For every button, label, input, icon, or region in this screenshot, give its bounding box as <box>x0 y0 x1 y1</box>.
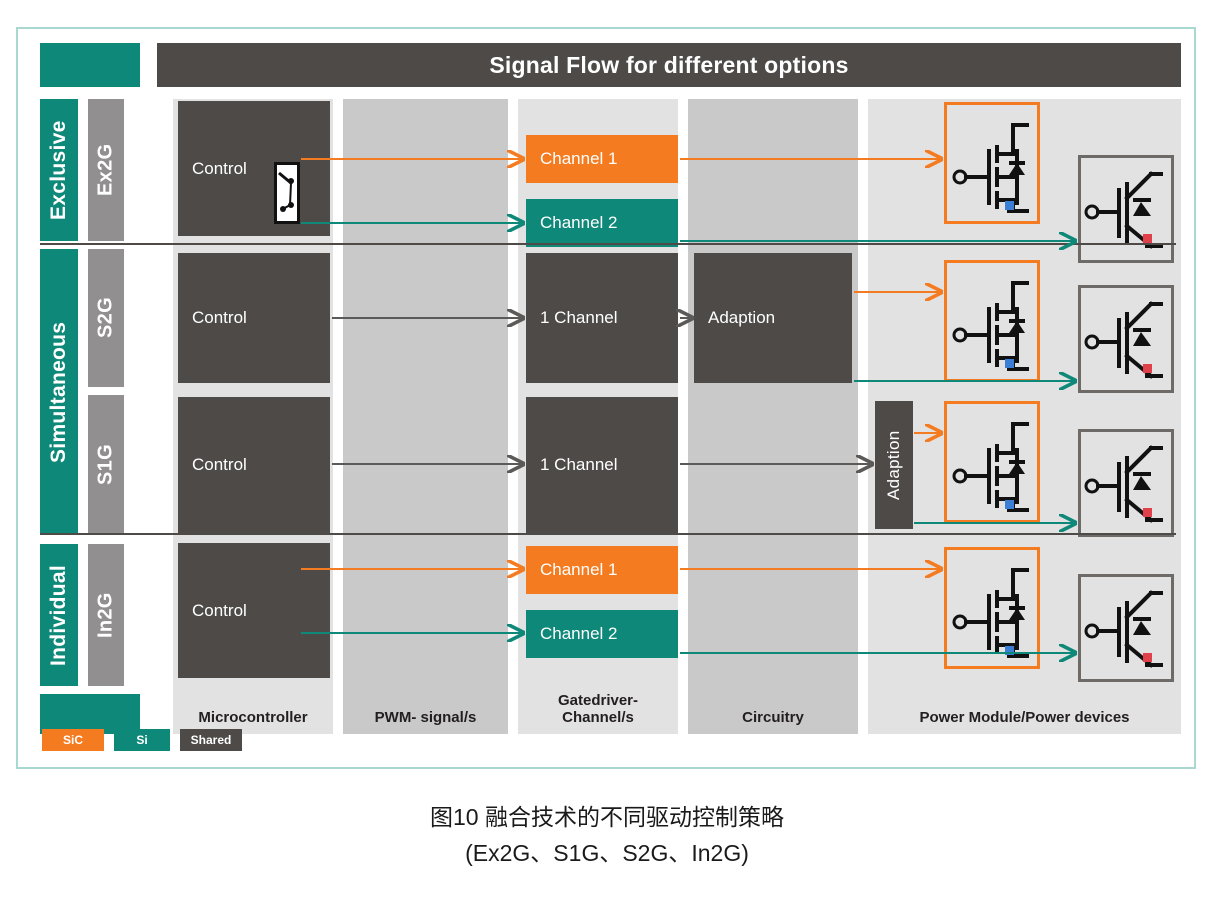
row-separator-1 <box>40 243 1176 245</box>
control-label-ex2g: Control <box>192 159 247 179</box>
category-label-simultaneous-text: Simultaneous <box>47 321 71 462</box>
mosfet-symbol <box>947 404 1037 520</box>
row-code-s1g-text: S1G <box>95 445 118 486</box>
si-device-ex2g <box>1078 155 1174 263</box>
header-bar: Signal Flow for different options <box>157 43 1181 87</box>
control-label-s1g: Control <box>192 455 247 475</box>
mosfet-symbol <box>947 263 1037 379</box>
row-code-in2g-text: In2G <box>95 592 118 638</box>
circuitry-adaption-s1g-text: Adaption <box>884 430 904 500</box>
gatedriver-channel-2-in2g: Channel 2 <box>526 610 678 658</box>
column-footer-power: Power Module/Power devices <box>868 684 1181 734</box>
gatedriver-channel-s1g: 1 Channel <box>526 397 678 533</box>
sic-device-in2g <box>944 547 1040 669</box>
row-separator-2 <box>40 533 1176 535</box>
gatedriver-channel-1-in2g-text: Channel 1 <box>540 560 618 580</box>
mosfet-symbol <box>947 105 1037 221</box>
figure-caption: 图10 融合技术的不同驱动控制策略 (Ex2G、S1G、S2G、In2G) <box>0 800 1214 871</box>
control-block-s1g: Control <box>178 397 330 533</box>
gatedriver-channel-2-in2g-text: Channel 2 <box>540 624 618 644</box>
column-footer-circuitry: Circuitry <box>688 684 858 734</box>
column-footer-circuitry-text: Circuitry <box>742 710 804 727</box>
sic-device-s2g <box>944 260 1040 382</box>
figure-caption-line1: 图10 融合技术的不同驱动控制策略 <box>0 800 1214 836</box>
mosfet-symbol <box>947 550 1037 666</box>
si-device-s2g <box>1078 285 1174 393</box>
circuitry-adaption-s1g: Adaption <box>875 401 913 529</box>
lane-circuitry <box>688 99 858 734</box>
igbt-symbol <box>1081 432 1171 534</box>
column-footer-power-text: Power Module/Power devices <box>919 710 1129 727</box>
si-device-in2g <box>1078 574 1174 682</box>
gatedriver-channel-1-ex2g: Channel 1 <box>526 135 678 183</box>
circuitry-adaption-s2g-text: Adaption <box>708 308 775 328</box>
row-code-ex2g: Ex2G <box>88 99 124 241</box>
igbt-symbol <box>1081 288 1171 390</box>
column-footer-gatedriver: Gatedriver- Channel/s <box>518 669 678 734</box>
corner-key-block <box>40 43 140 87</box>
sic-device-ex2g <box>944 102 1040 224</box>
row-code-s2g-text: S2G <box>95 298 118 339</box>
figure-container: Signal Flow for different options Exclus… <box>16 27 1196 769</box>
column-footer-microcontroller: Microcontroller <box>173 684 333 734</box>
control-block-s2g: Control <box>178 253 330 383</box>
gatedriver-channel-2-ex2g: Channel 2 <box>526 199 678 247</box>
legend-chip-sic-text: SiC <box>63 733 83 747</box>
si-device-s1g <box>1078 429 1174 537</box>
category-label-exclusive: Exclusive <box>40 99 78 241</box>
category-label-individual: Individual <box>40 544 78 686</box>
legend-chip-sic: SiC <box>42 729 104 751</box>
category-label-exclusive-text: Exclusive <box>47 120 71 220</box>
row-code-s1g: S1G <box>88 395 124 535</box>
header-title: Signal Flow for different options <box>489 52 848 79</box>
gatedriver-channel-s1g-text: 1 Channel <box>540 455 618 475</box>
row-code-ex2g-text: Ex2G <box>95 144 118 196</box>
category-label-individual-text: Individual <box>47 565 71 666</box>
switch-icon <box>274 162 300 224</box>
control-block-ex2g: Control <box>178 101 330 236</box>
control-label-in2g: Control <box>192 601 247 621</box>
sic-device-s1g <box>944 401 1040 523</box>
column-footer-pwm: PWM- signal/s <box>343 684 508 734</box>
figure-caption-line2: (Ex2G、S1G、S2G、In2G) <box>0 836 1214 872</box>
row-code-in2g: In2G <box>88 544 124 686</box>
legend-chip-si: Si <box>114 729 170 751</box>
igbt-symbol <box>1081 577 1171 679</box>
row-code-s2g: S2G <box>88 249 124 387</box>
gatedriver-channel-s2g: 1 Channel <box>526 253 678 383</box>
control-block-in2g: Control <box>178 543 330 678</box>
legend-chip-shared: Shared <box>180 729 242 751</box>
gatedriver-channel-s2g-text: 1 Channel <box>540 308 618 328</box>
legend-chip-si-text: Si <box>136 733 147 747</box>
column-footer-microcontroller-text: Microcontroller <box>198 710 307 727</box>
column-footer-pwm-text: PWM- signal/s <box>375 710 477 727</box>
category-label-simultaneous: Simultaneous <box>40 249 78 535</box>
legend-chip-shared-text: Shared <box>191 733 232 747</box>
gatedriver-channel-1-ex2g-text: Channel 1 <box>540 149 618 169</box>
control-label-s2g: Control <box>192 308 247 328</box>
footer-key-block <box>40 694 140 734</box>
circuitry-adaption-s2g: Adaption <box>694 253 852 383</box>
column-footer-gatedriver-text: Gatedriver- Channel/s <box>558 693 638 727</box>
lane-pwm <box>343 99 508 734</box>
gatedriver-channel-2-ex2g-text: Channel 2 <box>540 213 618 233</box>
gatedriver-channel-1-in2g: Channel 1 <box>526 546 678 594</box>
